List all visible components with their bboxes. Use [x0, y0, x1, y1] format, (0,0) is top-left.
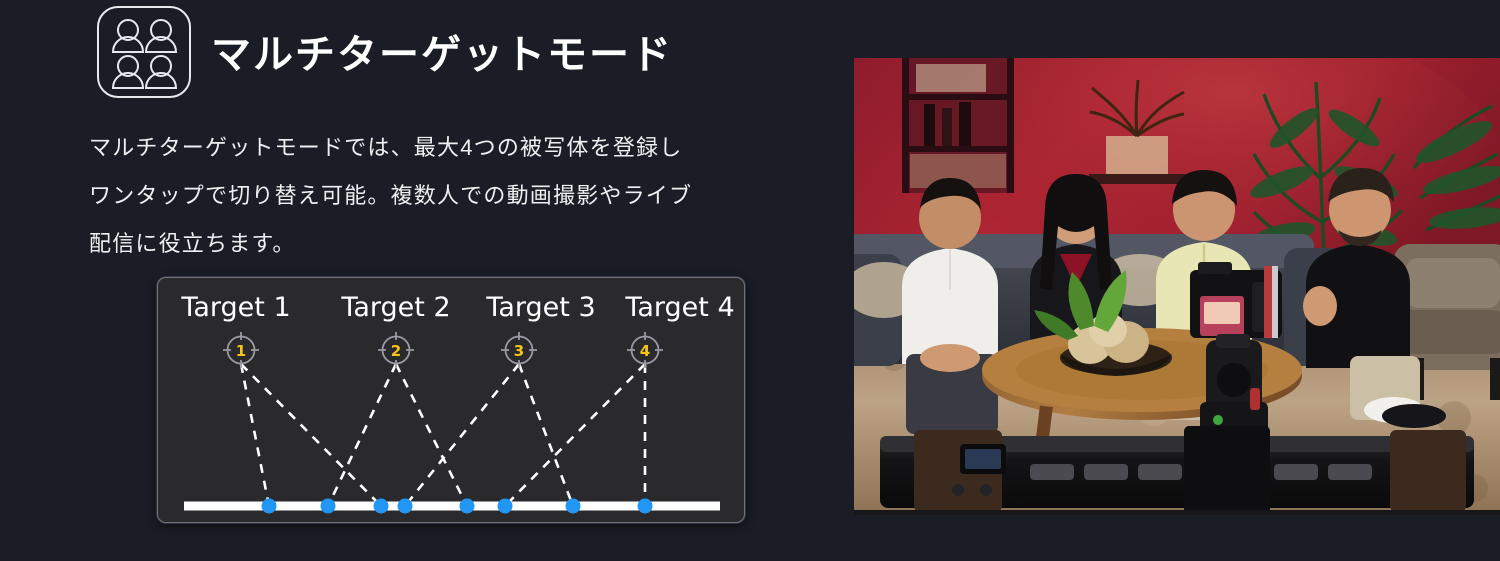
target-marker-number: 3	[514, 342, 524, 360]
feature-header: マルチターゲットモード	[95, 4, 673, 100]
target-marker-number: 4	[640, 342, 650, 360]
target-label-4: Target 4	[624, 292, 734, 323]
page-title: マルチターゲットモード	[211, 29, 673, 75]
camera-slider	[880, 426, 1474, 515]
track-dot	[460, 499, 475, 514]
track-dot	[498, 499, 513, 514]
slider-end-cap	[1390, 430, 1466, 512]
target-marker-number: 2	[391, 342, 401, 360]
multi-target-diagram-panel: Target 1 Target 2 Target 3 Target 4 1	[157, 277, 745, 523]
target-marker-number: 1	[236, 342, 246, 360]
target-label-1: Target 1	[180, 292, 290, 323]
target-label-3: Target 3	[485, 292, 595, 323]
track-dot	[398, 499, 413, 514]
track-dot	[566, 499, 581, 514]
slider-carriage	[1184, 426, 1270, 515]
description-line-1: マルチターゲットモードでは、最大4つの被写体を登録し	[89, 124, 789, 172]
status-led	[1213, 415, 1223, 425]
photo-illustration	[854, 58, 1500, 515]
track-dot	[638, 499, 653, 514]
multi-target-diagram: Target 1 Target 2 Target 3 Target 4 1	[158, 278, 745, 523]
track-dot	[321, 499, 336, 514]
living-room-four-people-camera-slider-photo	[854, 58, 1500, 515]
target-label-2: Target 2	[340, 292, 450, 323]
multi-person-grid-icon	[95, 4, 193, 100]
camera-body	[1190, 262, 1282, 338]
target-marker-2[interactable]: 2	[378, 332, 414, 368]
left-content-column: マルチターゲットモード マルチターゲットモードでは、最大4つの被写体を登録し ワ…	[0, 0, 820, 561]
track-dot	[374, 499, 389, 514]
description-line-3: 配信に役立ちます。	[89, 220, 789, 268]
page-root: マルチターゲットモード マルチターゲットモードでは、最大4つの被写体を登録し ワ…	[0, 0, 1500, 561]
target-marker-3[interactable]: 3	[501, 332, 537, 368]
feature-description: マルチターゲットモードでは、最大4つの被写体を登録し ワンタップで切り替え可能。…	[89, 124, 789, 268]
target-marker-1[interactable]: 1	[223, 332, 259, 368]
raised-fist	[1303, 286, 1337, 326]
description-line-2: ワンタップで切り替え可能。複数人での動画撮影やライブ	[89, 172, 789, 220]
bookshelf	[902, 58, 1014, 193]
track-dot	[262, 499, 277, 514]
target-marker-4[interactable]: 4	[627, 332, 663, 368]
target-connector-lines	[241, 364, 645, 506]
gimbal-head	[1200, 334, 1268, 436]
